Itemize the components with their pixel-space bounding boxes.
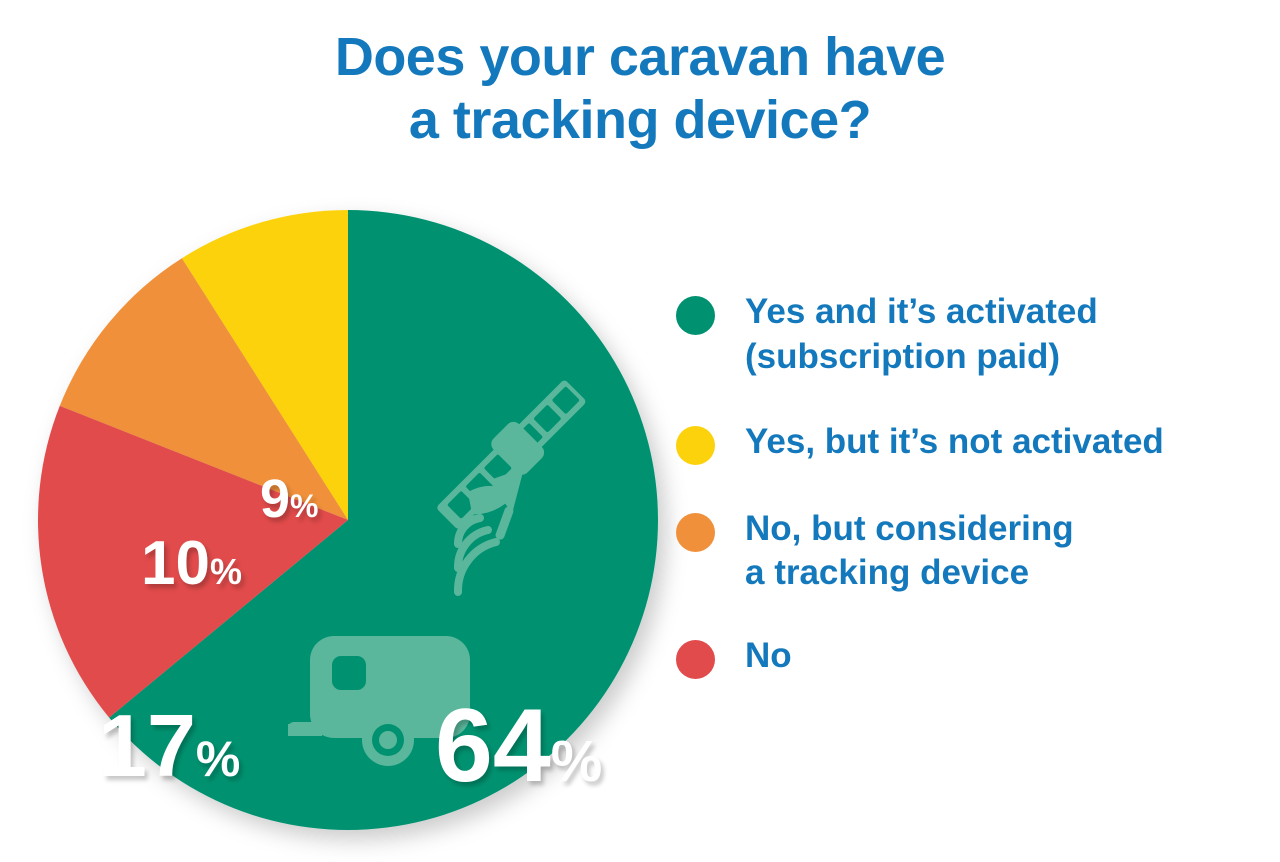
chart-legend: Yes and it’s activated (subscription pai… (676, 288, 1262, 679)
legend-item-yes-activated[interactable]: Yes and it’s activated (subscription pai… (676, 288, 1262, 380)
pie-label-10-number: 10 (141, 533, 210, 595)
pie-label-9-percent: 9% (260, 472, 319, 526)
legend-item-no-considering[interactable]: No, but considering a tracking device (676, 505, 1262, 597)
yellow-swatch-icon (676, 426, 715, 465)
legend-label-yes-activated: Yes and it’s activated (subscription pai… (745, 288, 1098, 380)
pie-label-9-number: 9 (260, 472, 290, 526)
legend-label-line-2: (subscription paid) (745, 335, 1098, 380)
legend-label-line-1: No (745, 634, 792, 679)
legend-label-line-1: Yes, but it’s not activated (745, 420, 1164, 465)
pie-label-64-number: 64 (435, 694, 551, 798)
pie-label-64-percent: 64% (435, 694, 602, 798)
pie-label-17-percent-sign: % (196, 734, 240, 784)
legend-label-no: No (745, 632, 792, 679)
pie-label-9-percent-sign: % (290, 490, 318, 522)
legend-item-no[interactable]: No (676, 632, 1262, 679)
legend-label-no-considering: No, but considering a tracking device (745, 505, 1074, 597)
page-title-line-1: Does your caravan have (0, 26, 1280, 89)
green-swatch-icon (676, 296, 715, 335)
legend-item-yes-not-activated[interactable]: Yes, but it’s not activated (676, 418, 1262, 465)
legend-label-line-2: a tracking device (745, 551, 1074, 596)
legend-label-line-1: No, but considering (745, 507, 1074, 552)
pie-label-64-percent-sign: % (551, 733, 603, 791)
legend-label-line-1: Yes and it’s activated (745, 290, 1098, 335)
red-swatch-icon (676, 640, 715, 679)
page-title-line-2: a tracking device? (0, 89, 1280, 152)
legend-label-yes-not-activated: Yes, but it’s not activated (745, 418, 1164, 465)
pie-label-10-percent: 10% (141, 533, 242, 595)
pie-label-17-percent: 17% (98, 702, 240, 790)
pie-chart: 64% 17% 10% 9% (20, 196, 700, 862)
orange-swatch-icon (676, 513, 715, 552)
page-title: Does your caravan have a tracking device… (0, 26, 1280, 151)
pie-label-17-number: 17 (98, 702, 196, 790)
pie-label-10-percent-sign: % (210, 554, 242, 590)
